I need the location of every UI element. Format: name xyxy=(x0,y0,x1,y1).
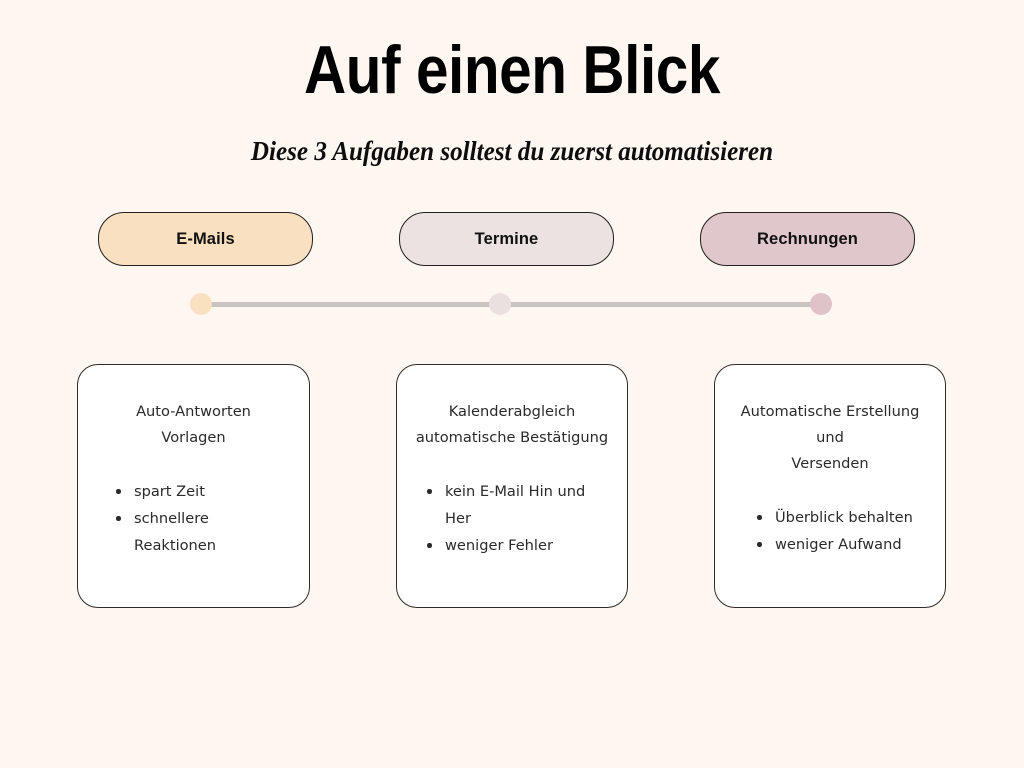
card-bullet-list: spart Zeit schnellere Reaktionen xyxy=(94,478,293,559)
card-heading-line: Vorlagen xyxy=(94,425,293,451)
card-heading-line: Automatische Erstellung und xyxy=(731,399,929,451)
card-heading: Kalenderabgleich automatische Bestätigun… xyxy=(413,399,611,451)
card-heading-line: Kalenderabgleich xyxy=(413,399,611,425)
category-pill-label: Termine xyxy=(475,230,539,249)
detail-card-termine: Kalenderabgleich automatische Bestätigun… xyxy=(396,364,628,608)
category-pill-rechnungen[interactable]: Rechnungen xyxy=(700,212,915,266)
timeline-dot-2 xyxy=(489,293,511,315)
list-item: weniger Aufwand xyxy=(757,531,929,558)
card-bullet-list: Überblick behalten weniger Aufwand xyxy=(731,504,929,558)
list-item: weniger Fehler xyxy=(427,532,611,559)
card-heading: Auto-Antworten Vorlagen xyxy=(94,399,293,451)
category-pill-emails[interactable]: E-Mails xyxy=(98,212,313,266)
card-bullet-list: kein E-Mail Hin und Her weniger Fehler xyxy=(413,478,611,559)
list-item: Überblick behalten xyxy=(757,504,929,531)
page-title: Auf einen Blick xyxy=(72,32,953,108)
list-item: schnellere Reaktionen xyxy=(116,505,293,559)
timeline-connector xyxy=(190,293,832,317)
card-heading: Automatische Erstellung und Versenden xyxy=(731,399,929,477)
card-heading-line: automatische Bestätigung xyxy=(413,425,611,451)
timeline-dot-3 xyxy=(810,293,832,315)
list-item: kein E-Mail Hin und Her xyxy=(427,478,611,532)
list-item: spart Zeit xyxy=(116,478,293,505)
detail-card-rechnungen: Automatische Erstellung und Versenden Üb… xyxy=(714,364,946,608)
page-subtitle: Diese 3 Aufgaben solltest du zuerst auto… xyxy=(36,134,988,168)
timeline-line xyxy=(201,302,821,307)
category-pill-label: E-Mails xyxy=(176,230,234,249)
category-pill-label: Rechnungen xyxy=(757,230,858,249)
detail-card-emails: Auto-Antworten Vorlagen spart Zeit schne… xyxy=(77,364,310,608)
card-heading-line: Versenden xyxy=(731,451,929,477)
category-pill-termine[interactable]: Termine xyxy=(399,212,614,266)
timeline-dot-1 xyxy=(190,293,212,315)
card-heading-line: Auto-Antworten xyxy=(94,399,293,425)
